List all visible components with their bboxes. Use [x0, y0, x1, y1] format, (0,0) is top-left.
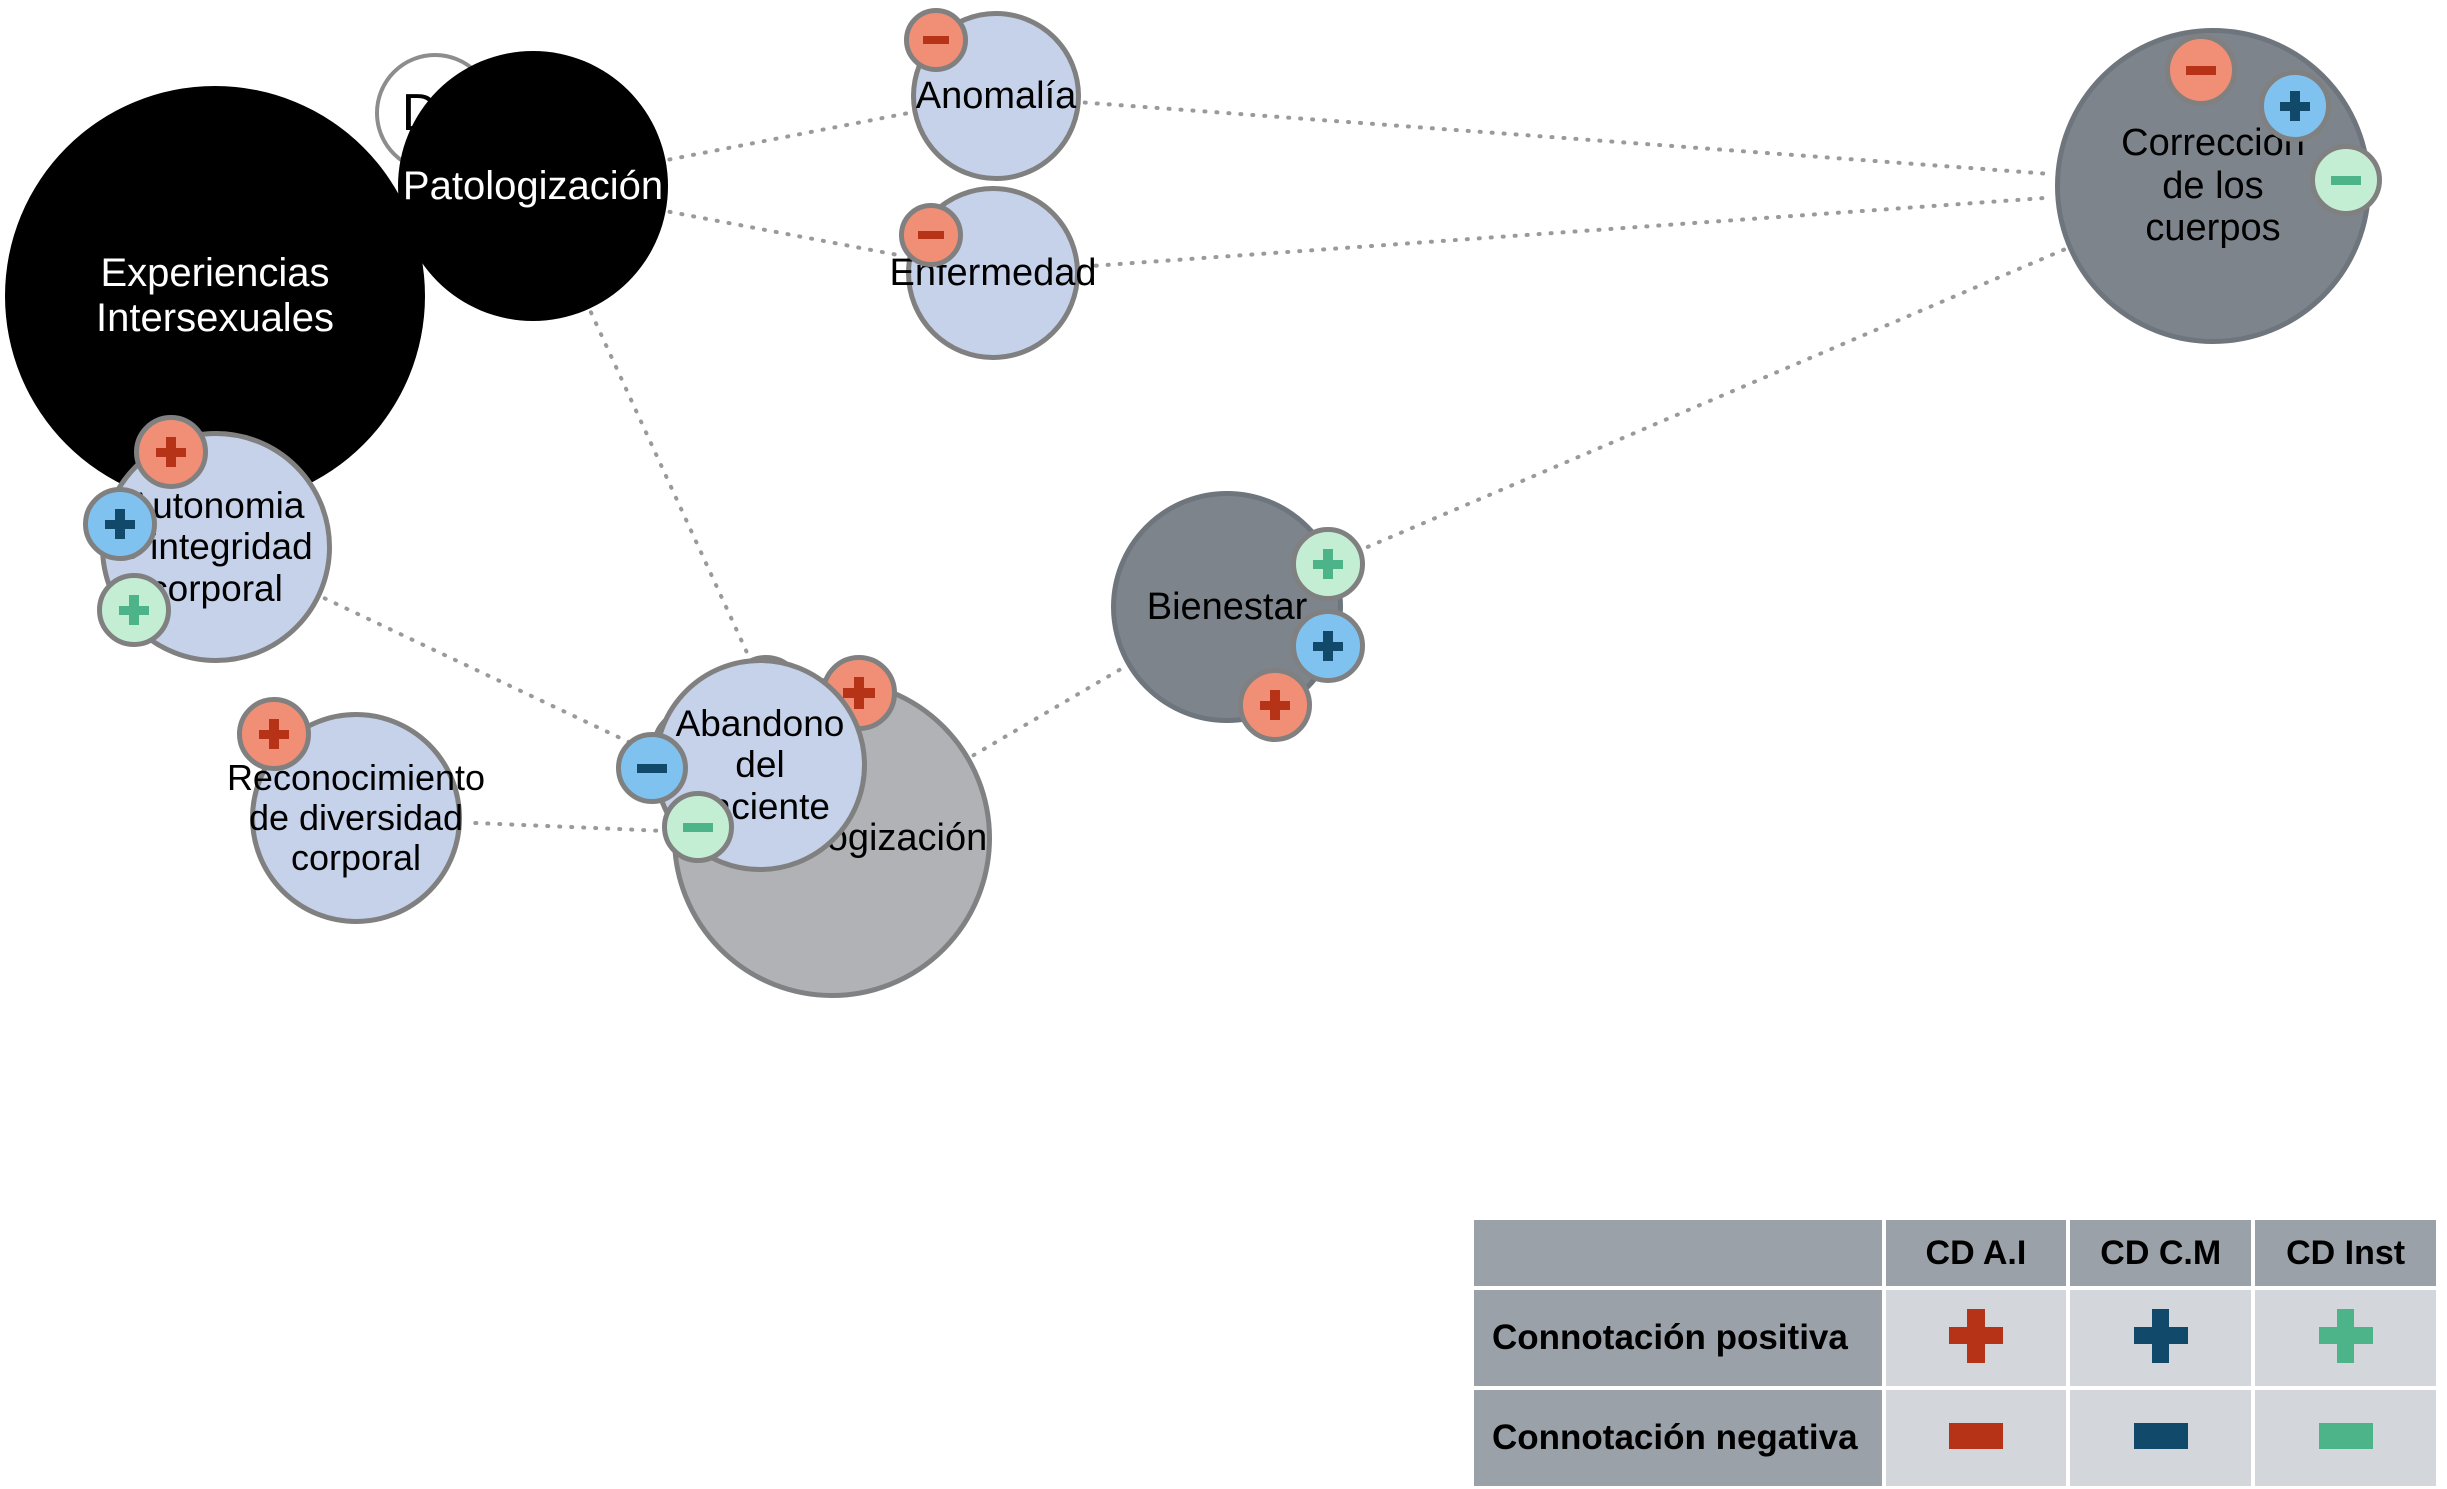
plus-red-badge-icon: [134, 415, 208, 489]
plus-red-badge-icon: [237, 697, 311, 771]
plus-blue-badge-icon: [83, 487, 157, 561]
legend-symbol-cell: [2255, 1290, 2436, 1386]
plus-glyph: [112, 588, 156, 632]
legend-plus-icon: [2134, 1309, 2188, 1363]
legend-bar-vertical: [2152, 1309, 2169, 1363]
legend-row-label: Connotación negativa: [1474, 1390, 1882, 1486]
minus-red-badge-icon: [904, 8, 968, 72]
plus-green-badge-icon: [1291, 527, 1365, 601]
edge-patologizacion-to-despatologizacion: [591, 312, 764, 689]
glyph-bar-vertical: [115, 509, 124, 539]
plus-glyph: [1253, 683, 1297, 727]
legend-table: CD A.I CD C.M CD Inst Connotación positi…: [1470, 1216, 2440, 1489]
legend-plus-icon: [2319, 1309, 2373, 1363]
node-label-correccion: Corrección de los cuerpos: [2117, 122, 2309, 250]
legend-symbol-cell: [1886, 1390, 2067, 1486]
minus-green-badge-icon: [662, 791, 734, 863]
legend-symbol-cell: [2255, 1390, 2436, 1486]
minus-green-badge-icon: [2310, 144, 2382, 216]
plus-red-badge-icon: [1238, 668, 1312, 742]
minus-blue-badge-icon: [616, 732, 688, 804]
legend-bar-horizontal: [2134, 1423, 2188, 1449]
glyph-bar-horizontal: [683, 823, 712, 832]
legend-bar-vertical: [2337, 1309, 2354, 1363]
plus-green-badge-icon: [97, 573, 171, 647]
glyph-bar-horizontal: [637, 764, 666, 773]
plus-glyph: [2274, 85, 2317, 128]
glyph-bar-vertical: [269, 719, 278, 749]
legend-bar-horizontal: [1949, 1423, 2003, 1449]
legend-body: Connotación positivaConnotación negativa: [1474, 1290, 2436, 1486]
glyph-bar-vertical: [1323, 549, 1332, 579]
diagram-canvas: Experiencias IntersexualesD1Patologizaci…: [0, 0, 2447, 1489]
glyph-bar-vertical: [1270, 690, 1279, 720]
legend-symbol-cell: [2070, 1390, 2251, 1486]
minus-glyph: [912, 216, 950, 254]
minus-glyph: [631, 747, 674, 790]
plus-blue-badge-icon: [2259, 70, 2331, 142]
glyph-bar-vertical: [2290, 91, 2299, 120]
legend-head: CD A.I CD C.M CD Inst: [1474, 1220, 2436, 1286]
legend-header-cd-inst: CD Inst: [2255, 1220, 2436, 1286]
plus-glyph: [1306, 542, 1350, 586]
glyph-bar-horizontal: [2331, 176, 2360, 185]
legend-minus-icon: [1949, 1423, 2003, 1449]
legend-bar-vertical: [1967, 1309, 1984, 1363]
legend-header-cd-ai: CD A.I: [1886, 1220, 2067, 1286]
minus-glyph: [677, 806, 720, 849]
legend-minus-icon: [2319, 1423, 2373, 1449]
plus-blue-badge-icon: [1291, 609, 1365, 683]
minus-glyph: [2180, 49, 2223, 92]
legend-header-cd-cm: CD C.M: [2070, 1220, 2251, 1286]
node-label-patologizacion: Patologización: [399, 164, 667, 209]
legend-symbol-cell: [1886, 1290, 2067, 1386]
node-patologizacion[interactable]: Patologización: [398, 51, 668, 321]
glyph-bar-horizontal: [2186, 66, 2215, 75]
edge-patologizacion-to-enfermedad: [670, 212, 904, 256]
glyph-bar-horizontal: [923, 36, 949, 44]
edge-despatologizacion-to-reconocimiento: [466, 823, 668, 831]
minus-red-badge-icon: [2165, 34, 2237, 106]
edge-correccion-to-bienestar: [1337, 250, 2064, 560]
edge-anomalia-to-correccion: [1085, 103, 2052, 174]
legend-row-label: Connotación positiva: [1474, 1290, 1882, 1386]
edge-patologizacion-to-anomalia: [669, 113, 908, 159]
legend-corner-cell: [1474, 1220, 1882, 1286]
legend-plus-icon: [1949, 1309, 2003, 1363]
legend-row: Connotación positiva: [1474, 1290, 2436, 1386]
node-label-bienestar: Bienestar: [1143, 586, 1312, 629]
edge-despatologizacion-to-bienestar: [974, 668, 1124, 756]
glyph-bar-vertical: [1323, 631, 1332, 661]
edge-enfermedad-to-correccion: [1084, 198, 2052, 267]
plus-glyph: [149, 430, 193, 474]
plus-glyph: [98, 502, 142, 546]
legend-row: Connotación negativa: [1474, 1390, 2436, 1486]
plus-glyph: [1306, 624, 1350, 668]
glyph-bar-horizontal: [918, 231, 944, 239]
minus-red-badge-icon: [899, 203, 963, 267]
legend-header-row: CD A.I CD C.M CD Inst: [1474, 1220, 2436, 1286]
minus-glyph: [2325, 159, 2368, 202]
glyph-bar-vertical: [129, 595, 138, 625]
node-label-anomalia: Anomalía: [912, 75, 1081, 118]
plus-glyph: [252, 712, 296, 756]
node-label-experiencias: Experiencias Intersexuales: [92, 251, 338, 341]
legend-symbol-cell: [2070, 1290, 2251, 1386]
minus-glyph: [917, 21, 955, 59]
legend-bar-horizontal: [2319, 1423, 2373, 1449]
glyph-bar-vertical: [166, 437, 175, 467]
legend-minus-icon: [2134, 1423, 2188, 1449]
node-label-reconocimiento: Reconocimiento de diversidad corporal: [223, 758, 489, 879]
